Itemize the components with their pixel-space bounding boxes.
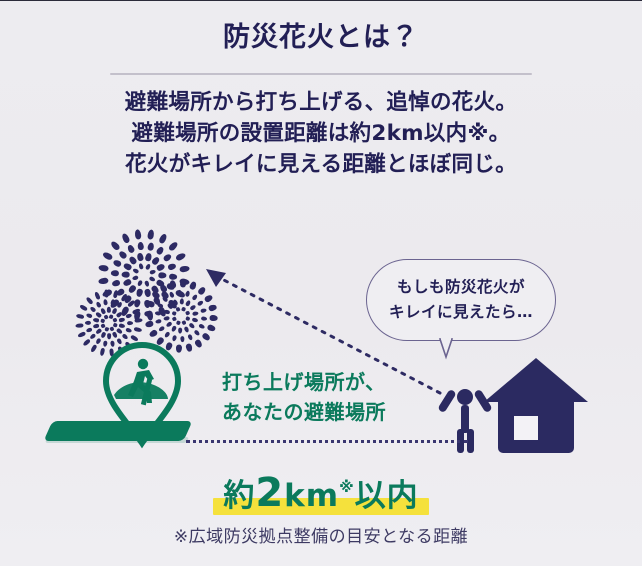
launch-label-line-2: あなたの避難場所 [222, 397, 432, 427]
person-leg-right [467, 429, 474, 453]
speech-bubble-text: もしも防災花火が キレイに見えたら… [366, 275, 556, 325]
distance-prefix: 約 [223, 478, 255, 514]
person-head [457, 389, 473, 405]
launch-label-line-1: 打ち上げ場所が、 [222, 367, 432, 397]
distance-suffix: 以内 [355, 478, 419, 514]
page-title: 防災花火とは？ [0, 15, 642, 54]
distance-number: 2 [255, 470, 284, 516]
person-arm-left [437, 389, 457, 414]
ground-platform [44, 421, 193, 441]
distance-unit: km [284, 478, 339, 514]
distance-value: 約2km※以内 [213, 467, 428, 516]
bubble-line-2: キレイに見えたら… [366, 300, 556, 325]
house-window [514, 416, 538, 440]
title-divider [110, 73, 532, 75]
bubble-line-1: もしも防災花火が [366, 275, 556, 300]
house-icon [484, 358, 588, 453]
distance-mark: ※ [339, 478, 355, 496]
house-roof [484, 358, 588, 402]
intro-body-text: 避難場所から打ち上げる、追悼の花火。 避難場所の設置距離は約2km以内※。 花火… [0, 87, 642, 180]
launch-site-label: 打ち上げ場所が、 あなたの避難場所 [222, 367, 432, 427]
distance-callout: 約2km※以内 [0, 467, 642, 516]
footnote-text: ※広域防災拠点整備の目安となる距離 [0, 522, 642, 547]
body-line-3: 花火がキレイに見える距離とほぼ同じ。 [0, 149, 642, 180]
dotted-measure-line [186, 440, 468, 443]
body-line-1: 避難場所から打ち上げる、追悼の花火。 [0, 87, 642, 118]
body-line-2: 避難場所の設置距離は約2km以内※。 [0, 118, 642, 149]
infographic-page: 防災花火とは？ 避難場所から打ち上げる、追悼の花火。 避難場所の設置距離は約2k… [0, 0, 642, 566]
